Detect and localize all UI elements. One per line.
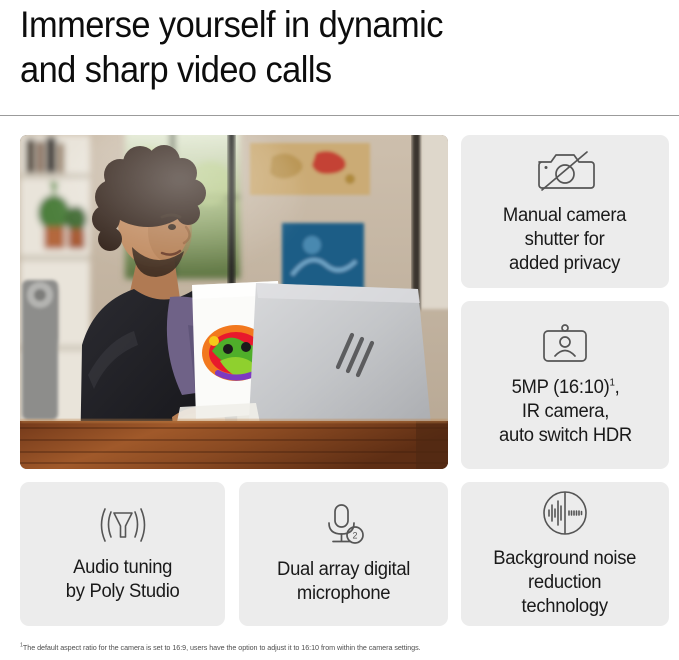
feature-card-audio-tuning: Audio tuning by Poly Studio [20,482,225,626]
feature-card-dual-array-microphone: 2 Dual array digital microphone [239,482,448,626]
speaker-waves-icon [96,504,150,546]
feature-card-label: Audio tuning by Poly Studio [66,556,180,604]
feature-card-noise-reduction: Background noise reduction technology [461,482,669,626]
hero-photo [20,135,448,469]
svg-text:2: 2 [352,531,357,541]
hero-photo-illustration [20,135,448,469]
feature-card-label: 5MP (16:10)1, IR camera, auto switch HDR [499,376,632,448]
feature-card-label: Dual array digital microphone [277,558,410,606]
footnote: 1The default aspect ratio for the camera… [20,643,646,653]
footnote-marker: 1 [609,378,614,389]
feature-card-label: Background noise reduction technology [494,547,637,619]
person-in-frame-camera-icon [538,322,592,366]
noise-reduction-waveform-icon [541,489,589,537]
camera-off-icon [535,148,595,194]
feature-card-label: Manual camera shutter for added privacy [503,204,626,276]
feature-card-camera-specs: 5MP (16:10)1, IR camera, auto switch HDR [461,301,669,469]
feature-card-manual-camera-shutter: Manual camera shutter for added privacy [461,135,669,288]
header-divider [0,115,679,116]
footnote-text: The default aspect ratio for the camera … [23,643,421,652]
microphone-dual-icon: 2 [321,502,367,548]
page-title: Immerse yourself in dynamic and sharp vi… [20,2,606,92]
camera-spec-resolution: 5MP (16:10) [511,377,609,398]
